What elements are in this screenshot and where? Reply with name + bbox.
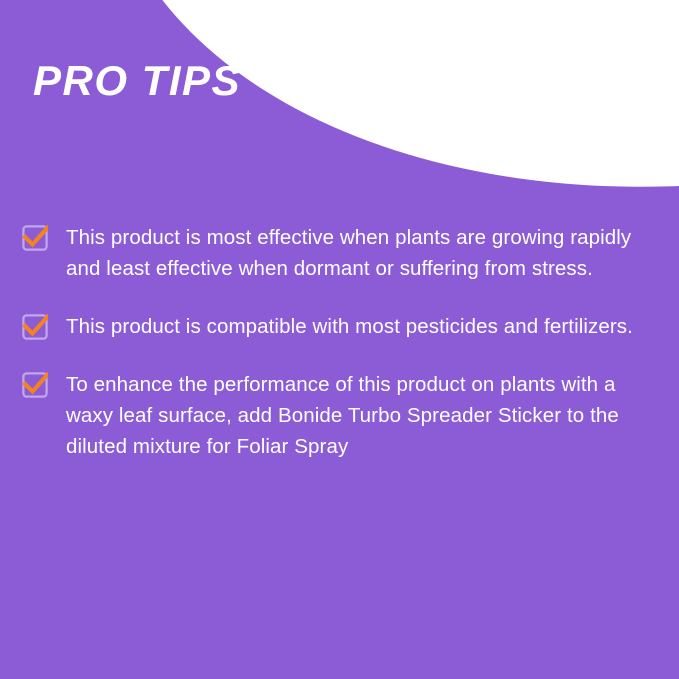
pro-tips-card: PRO TIPS This product is most effective … — [0, 0, 679, 679]
page-title: PRO TIPS — [33, 57, 241, 105]
list-item: This product is compatible with most pes… — [22, 311, 642, 342]
check-icon — [22, 314, 48, 340]
list-item: To enhance the performance of this produ… — [22, 369, 642, 462]
tip-text: To enhance the performance of this produ… — [66, 369, 642, 462]
tip-text: This product is most effective when plan… — [66, 222, 642, 284]
check-icon — [22, 225, 48, 251]
tip-text: This product is compatible with most pes… — [66, 311, 633, 342]
list-item: This product is most effective when plan… — [22, 222, 642, 284]
check-icon — [22, 372, 48, 398]
tips-list: This product is most effective when plan… — [22, 222, 642, 489]
